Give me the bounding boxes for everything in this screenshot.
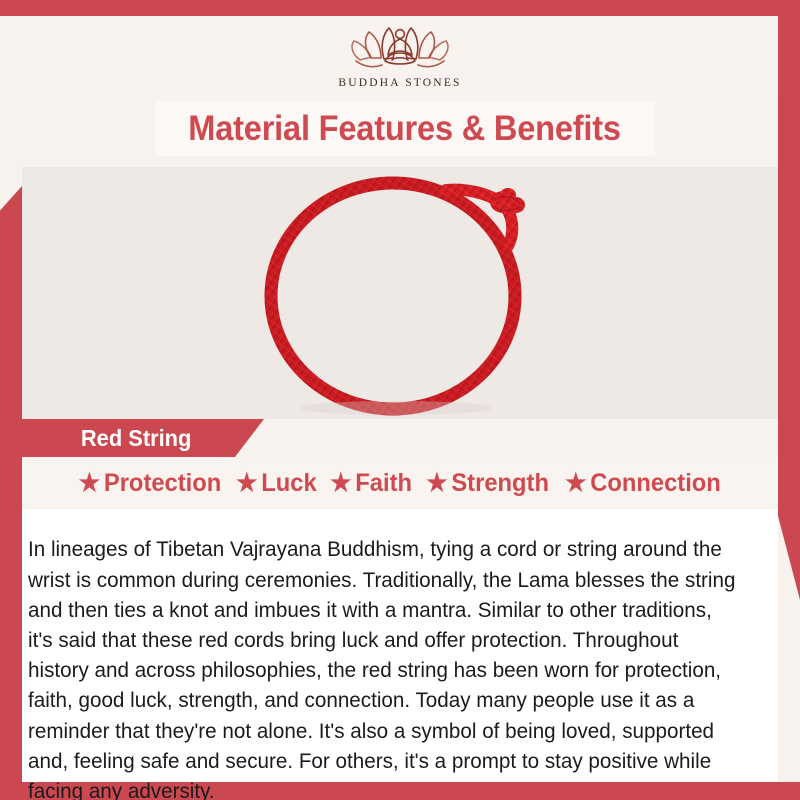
feature-item-strength: ★ Strength [426,469,549,498]
feature-label: Faith [355,469,412,498]
lotus-meditation-figure-icon [344,20,456,76]
title-band: Material Features & Benefits [155,101,655,156]
brand-name: BUDDHA STONES [338,77,461,89]
feature-label: Luck [261,469,316,498]
feature-label: Connection [590,469,721,498]
feature-item-faith: ★ Faith [330,469,412,498]
frame-border-left [0,186,22,800]
feature-item-protection: ★ Protection [79,469,222,498]
features-band: ★ Protection ★ Luck ★ Faith ★ Strength ★… [22,457,778,509]
product-name-banner: Red String [22,419,264,457]
star-icon: ★ [236,471,257,496]
product-photo [22,167,778,419]
feature-label: Strength [451,469,549,498]
red-string-bracelet-illustration [250,168,550,418]
star-icon: ★ [565,471,586,496]
feature-item-luck: ★ Luck [236,469,317,498]
feature-label: Protection [104,469,221,498]
star-icon: ★ [79,471,100,496]
star-icon: ★ [426,471,447,496]
frame-border-right [778,0,800,600]
feature-item-connection: ★ Connection [565,469,721,498]
description-text: In lineages of Tibetan Vajrayana Buddhis… [28,534,740,800]
product-name-label: Red String [81,425,191,452]
page-title: Material Features & Benefits [189,109,622,149]
features-row: ★ Protection ★ Luck ★ Faith ★ Strength ★… [75,469,725,498]
description-panel: In lineages of Tibetan Vajrayana Buddhis… [22,509,778,782]
frame-border-top [0,0,800,16]
infographic-card: BUDDHA STONES Material Features & Benefi… [0,0,800,800]
brand-header: BUDDHA STONES [22,16,778,98]
star-icon: ★ [330,471,351,496]
